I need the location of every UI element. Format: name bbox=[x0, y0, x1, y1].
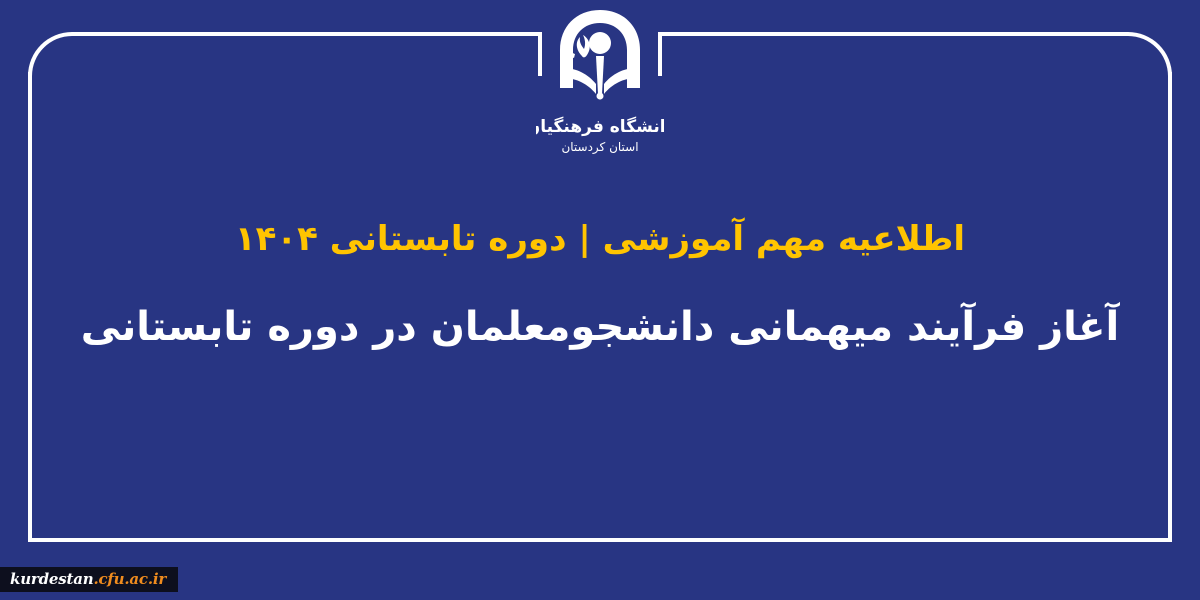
frame-line-left bbox=[28, 72, 32, 542]
announcement-headline: اطلاعیه مهم آموزشی | دوره تابستانی ۱۴۰۴ bbox=[40, 215, 1160, 264]
announcement-subheadline: آغاز فرآیند میهمانی دانشجومعلمان در دوره… bbox=[40, 298, 1160, 356]
site-url-domain: .cfu.ac.ir bbox=[93, 570, 166, 588]
university-logo: دانشگاه فرهنگیان استان کردستان bbox=[525, 6, 675, 158]
frame-corner-top-left bbox=[28, 32, 72, 76]
farhangian-university-emblem-icon bbox=[546, 6, 654, 110]
frame-line-bottom bbox=[28, 538, 1172, 542]
svg-text:استان کردستان: استان کردستان bbox=[561, 140, 638, 155]
frame-line-right bbox=[1168, 72, 1172, 542]
site-url-subdomain: kurdestan bbox=[10, 570, 93, 588]
announcement-banner: دانشگاه فرهنگیان استان کردستان اطلاعیه م… bbox=[0, 0, 1200, 600]
announcement-text-block: اطلاعیه مهم آموزشی | دوره تابستانی ۱۴۰۴ … bbox=[40, 215, 1160, 356]
site-url-badge[interactable]: kurdestan.cfu.ac.ir bbox=[0, 567, 178, 592]
frame-corner-top-right bbox=[1128, 32, 1172, 76]
svg-text:دانشگاه فرهنگیان: دانشگاه فرهنگیان bbox=[536, 116, 664, 137]
university-wordmark-icon: دانشگاه فرهنگیان استان کردستان bbox=[536, 112, 664, 158]
frame-line-top-right bbox=[660, 32, 1128, 36]
frame-line-top-left bbox=[72, 32, 542, 36]
